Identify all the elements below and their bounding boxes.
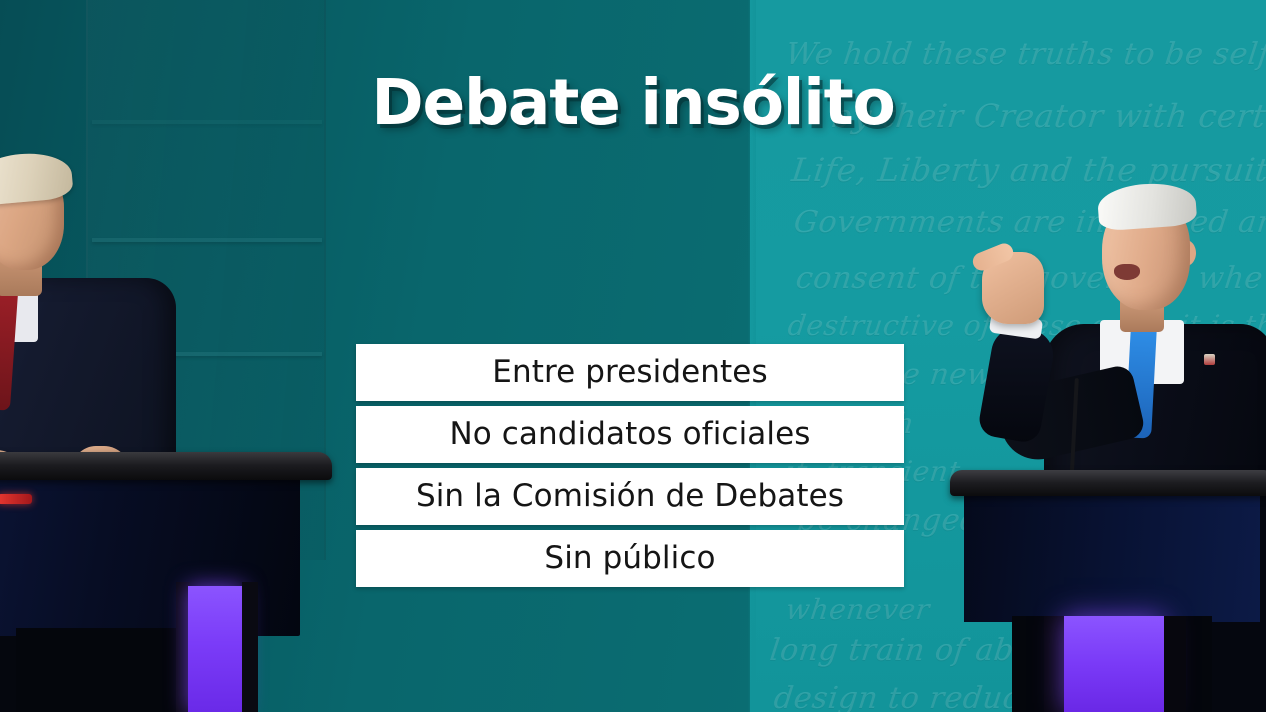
biden-hair: [1097, 181, 1198, 232]
podium-left-top-surface: [0, 452, 332, 480]
podium-right-top-surface: [950, 470, 1266, 496]
podium-right-leg-left: [1044, 616, 1064, 712]
podium-right-leg-right: [1164, 616, 1186, 712]
bullet-label: Sin público: [544, 543, 715, 574]
bullet-bar-3: Sin la Comisión de Debates: [356, 468, 904, 525]
biden-mouth: [1114, 264, 1140, 280]
bullet-bar-2: No candidatos oficiales: [356, 406, 904, 463]
podium-right-front: [964, 492, 1260, 622]
podium-right: [946, 470, 1266, 712]
bullet-label: Sin la Comisión de Debates: [416, 481, 844, 512]
page-title: Debate insólito: [0, 66, 1266, 139]
podium-left-purple-glow: [188, 586, 244, 712]
podium-left: [0, 452, 348, 712]
podium-right-purple-glow: [1064, 616, 1164, 712]
podium-left-glow-edge-right: [242, 582, 258, 712]
broadcast-graphic-stage: We hold these truths to be self-evident,…: [0, 0, 1266, 712]
podium-left-red-indicator: [0, 494, 32, 504]
bullet-list: Entre presidentes No candidatos oficiale…: [356, 344, 904, 592]
bullet-label: No candidatos oficiales: [449, 419, 810, 450]
bullet-bar-1: Entre presidentes: [356, 344, 904, 401]
biden-flag-lapel-pin: [1204, 354, 1215, 365]
bullet-bar-4: Sin público: [356, 530, 904, 587]
bullet-label: Entre presidentes: [492, 357, 767, 388]
